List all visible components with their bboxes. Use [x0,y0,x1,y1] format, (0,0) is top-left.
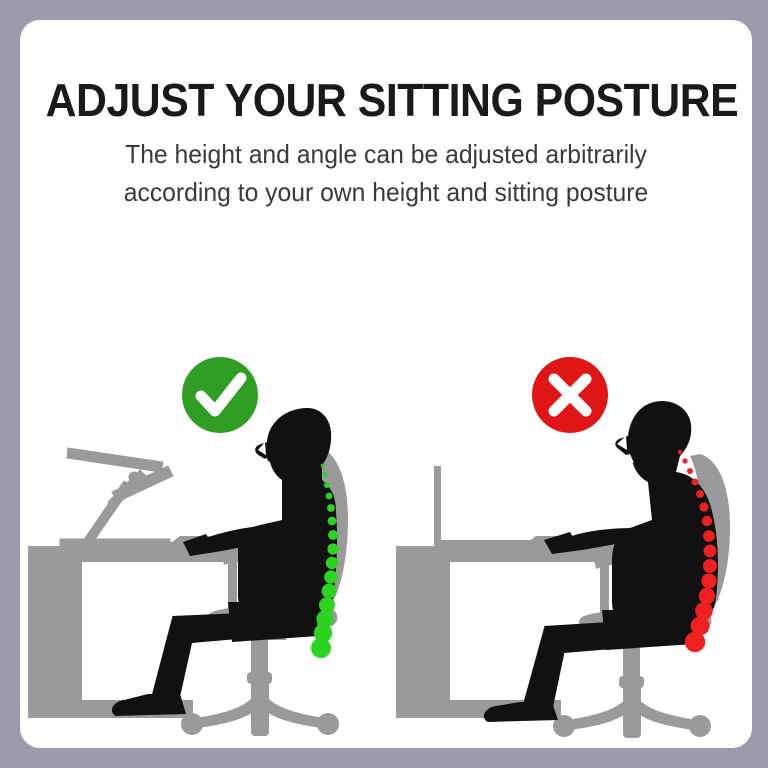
laptop-stand-left [60,448,173,546]
laptop-right [434,466,530,547]
subtitle-line-1: The height and angle can be adjusted arb… [38,136,733,174]
scene-bad-posture [386,320,752,748]
check-circle-icon [182,357,258,433]
x-circle-icon [532,357,608,433]
poster-card: ADJUST YOUR SITTING POSTURE The height a… [20,20,752,748]
poster-root: ADJUST YOUR SITTING POSTURE The height a… [0,0,768,768]
page-title: ADJUST YOUR SITTING POSTURE [46,76,727,124]
scene-good-posture [20,320,386,748]
subtitle-line-2: according to your own height and sitting… [38,174,733,212]
page-subtitle: The height and angle can be adjusted arb… [38,136,733,211]
